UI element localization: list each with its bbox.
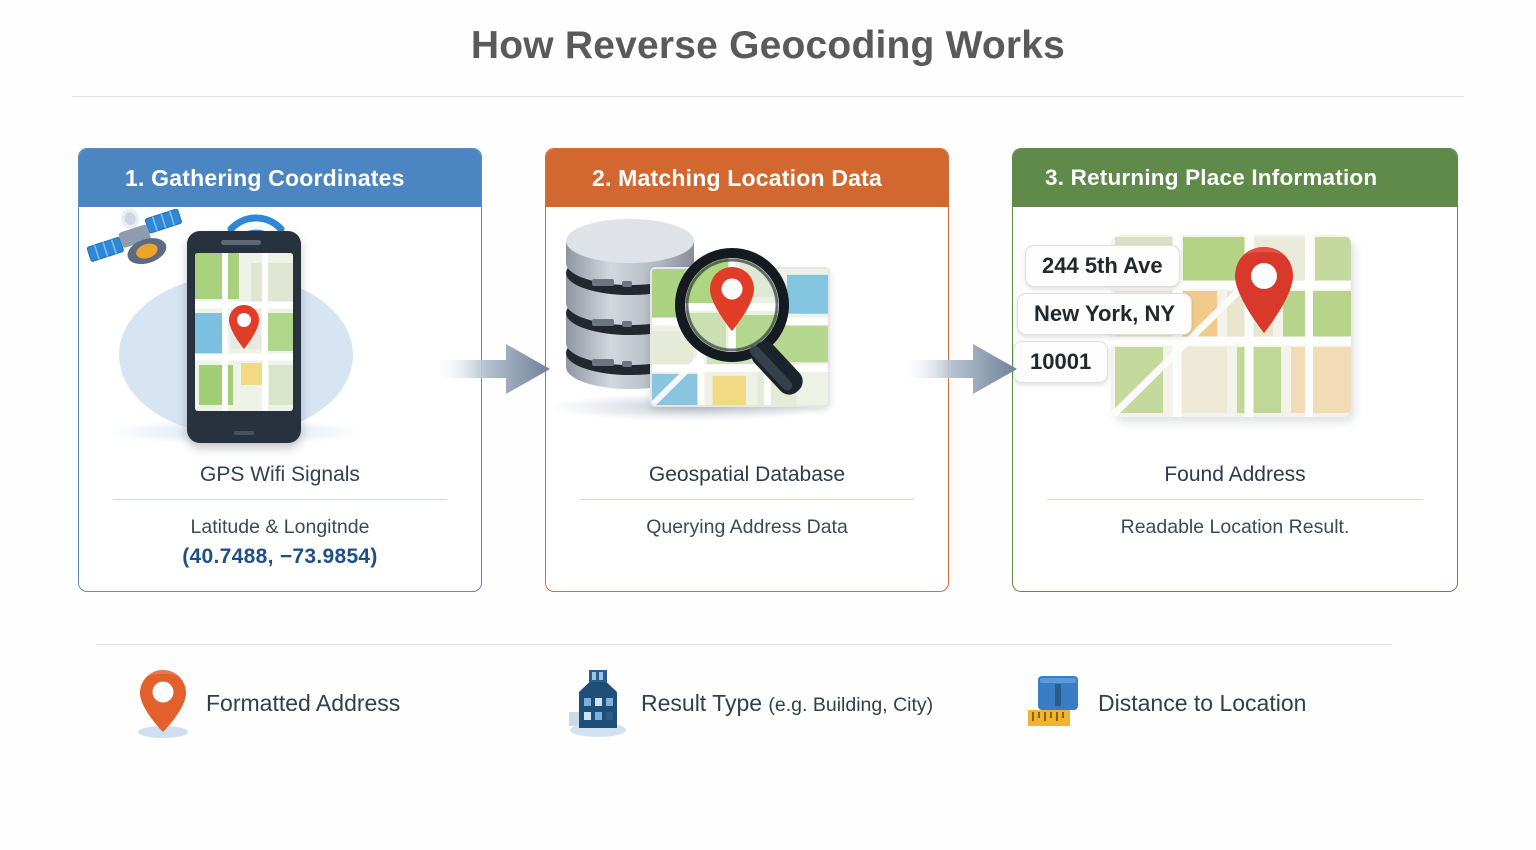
title-divider	[72, 96, 1464, 97]
step-3-caption-sub: Readable Location Result.	[1013, 500, 1457, 539]
building-icon	[565, 666, 631, 740]
infographic-page: How Reverse Geocoding Works 1. Gathering…	[0, 0, 1536, 850]
address-bubble-city: New York, NY	[1017, 293, 1192, 335]
ruler-measure-icon	[1022, 666, 1088, 740]
steps-container: 1. Gathering Coordinates	[0, 148, 1536, 592]
legend-icon-1	[130, 666, 196, 740]
address-bubble-street: 244 5th Ave	[1025, 245, 1180, 287]
step-2-header: 2. Matching Location Data	[546, 149, 948, 207]
step-3-header: 3. Returning Place Information	[1013, 149, 1457, 207]
step-1-illustration	[79, 207, 481, 457]
legend-label-2: Result Type (e.g. Building, City)	[641, 690, 933, 717]
step-3-captions: Found Address Readable Location Result.	[1013, 457, 1457, 539]
smartphone-icon	[187, 231, 301, 443]
step-2-caption-main: Geospatial Database	[546, 457, 948, 487]
step-2-captions: Geospatial Database Querying Address Dat…	[546, 457, 948, 539]
step-1-header: 1. Gathering Coordinates	[79, 149, 481, 207]
map-pin-icon	[130, 666, 196, 740]
phone-speaker	[221, 240, 261, 245]
mini-map-icon	[195, 253, 293, 411]
legend-label-1: Formatted Address	[206, 690, 400, 717]
magnifier-icon	[666, 243, 826, 399]
phone-screen	[195, 253, 293, 411]
legend-row: Formatted Address R	[0, 664, 1536, 754]
step-1-caption-sub: Latitude & Longitnde	[79, 500, 481, 539]
page-title: How Reverse Geocoding Works	[0, 24, 1536, 68]
legend-item-result-type: Result Type (e.g. Building, City)	[565, 666, 933, 740]
arrow-step-2-to-3	[899, 338, 1017, 400]
step-1-coordinates: (40.7488, −73.9854)	[79, 539, 481, 569]
legend-label-3: Distance to Location	[1098, 690, 1306, 717]
satellite-icon	[87, 209, 193, 283]
address-bubble-zip: 10001	[1013, 341, 1108, 383]
map-pin-icon	[1231, 245, 1297, 335]
step-2-caption-sub: Querying Address Data	[546, 500, 948, 539]
step-3-illustration: 244 5th Ave New York, NY 10001	[1013, 207, 1457, 457]
step-panel-2: 2. Matching Location Data	[545, 148, 949, 592]
step-1-caption-main: GPS Wifi Signals	[79, 457, 481, 487]
phone-home-button	[234, 431, 254, 435]
legend-item-distance: Distance to Location	[1022, 666, 1306, 740]
step-panel-1: 1. Gathering Coordinates	[78, 148, 482, 592]
arrow-step-1-to-2	[432, 338, 550, 400]
legend-divider	[96, 644, 1392, 645]
legend-icon-2	[565, 666, 631, 740]
legend-item-formatted-address: Formatted Address	[130, 666, 400, 740]
step-1-captions: GPS Wifi Signals Latitude & Longitnde (4…	[79, 457, 481, 569]
step-panel-3: 3. Returning Place Information	[1012, 148, 1458, 592]
step-2-illustration	[546, 207, 948, 457]
legend-icon-3	[1022, 666, 1088, 740]
step-3-caption-main: Found Address	[1013, 457, 1457, 487]
